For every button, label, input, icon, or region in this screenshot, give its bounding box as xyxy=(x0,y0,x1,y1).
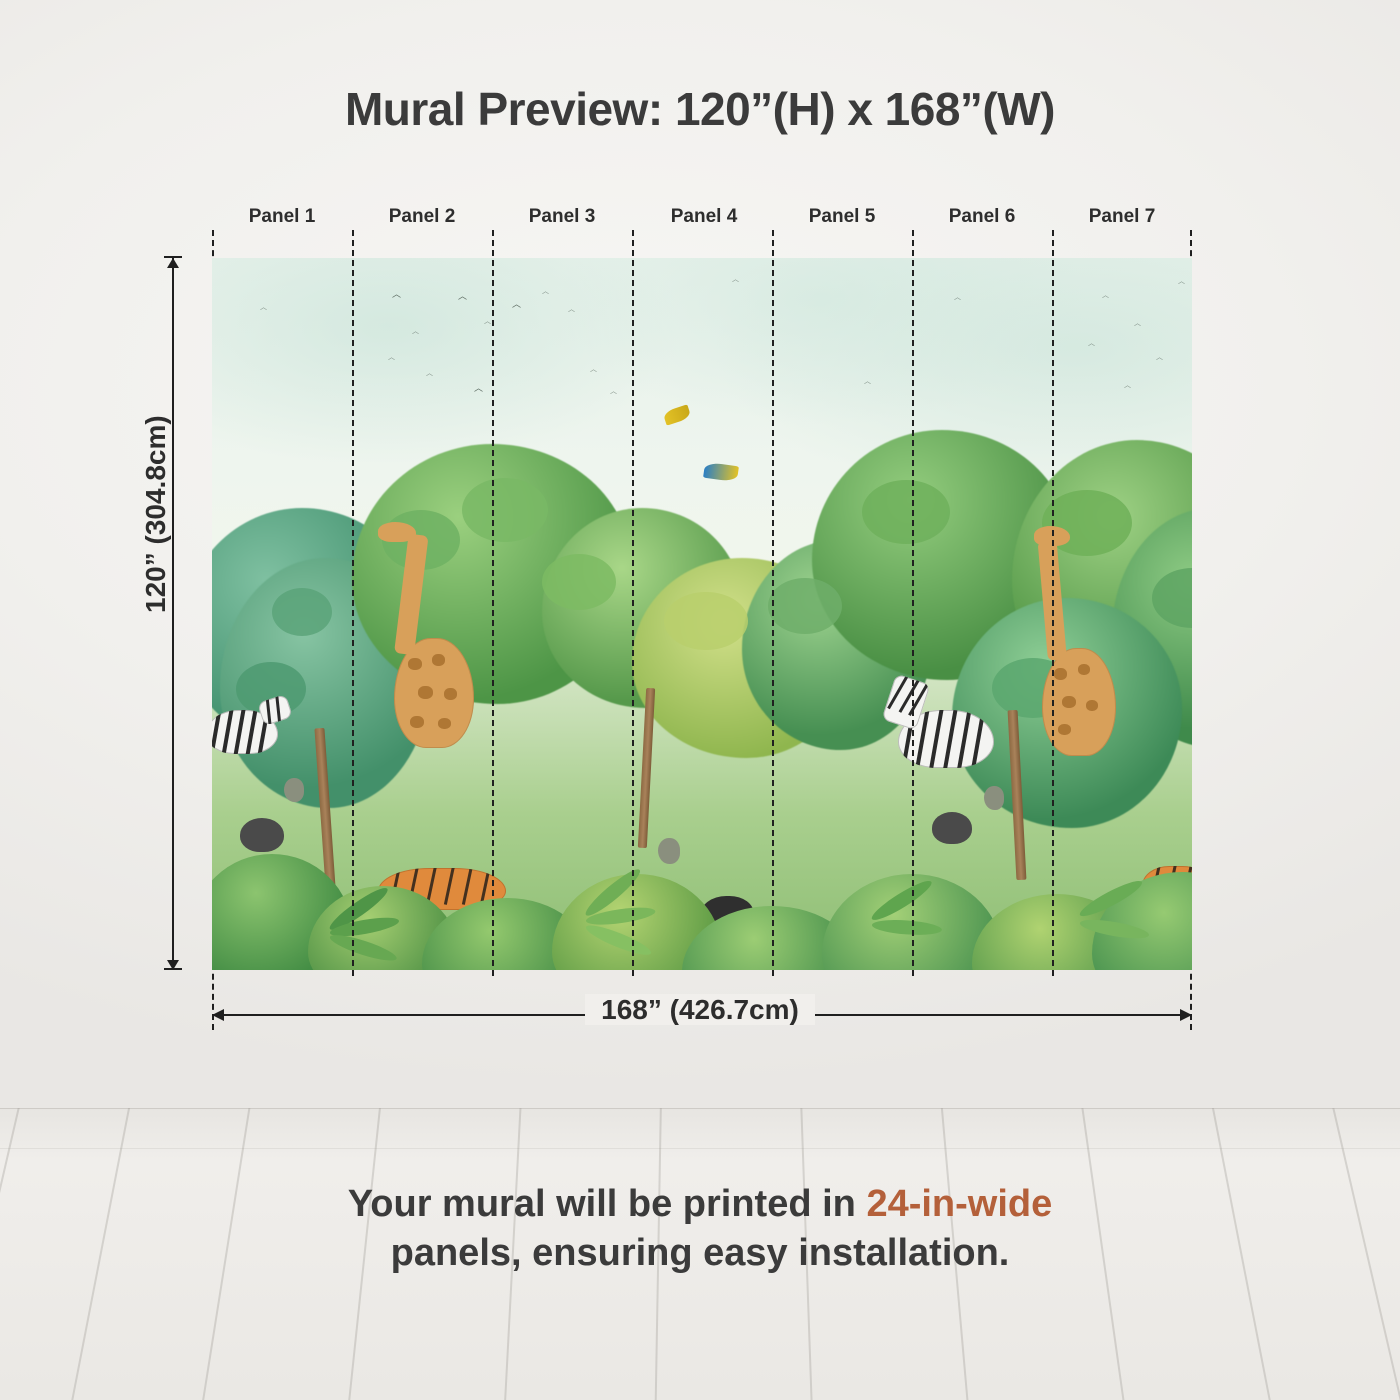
panel-label-4: Panel 4 xyxy=(671,206,738,228)
mural-preview[interactable]: ︿ ︿ ︿ ︿ ︿ ︿ ︿ ︿ ︿ ︿ ︿ ︿ ︿ ︿ ︿ ︿ ︿ ︿ ︿ ︿ xyxy=(212,258,1192,970)
height-dimension-cap-bottom xyxy=(164,968,182,970)
panel-divider-4 xyxy=(772,230,774,976)
height-dimension-label: 120” (304.8cm) xyxy=(140,415,172,613)
tree-trunk-mid xyxy=(638,688,655,848)
mural-preview-page: Mural Preview: 120”(H) x 168”(W) 120” (3… xyxy=(0,0,1400,1400)
panel-label-3: Panel 3 xyxy=(529,206,596,228)
panel-label-5: Panel 5 xyxy=(809,206,876,228)
crane-right xyxy=(932,812,972,844)
panel-divider-5 xyxy=(912,230,914,976)
monkey-left xyxy=(284,778,304,802)
crane-left xyxy=(240,818,284,852)
footer-accent-text: 24-in-wide xyxy=(866,1183,1052,1225)
width-dimension-text: 168” (426.7cm) xyxy=(585,994,815,1025)
monkey-right xyxy=(984,786,1004,810)
height-dimension-arrow xyxy=(172,258,174,970)
footer-line-1-prefix: Your mural will be printed in xyxy=(348,1183,867,1225)
width-dimension-label: 168” (426.7cm) xyxy=(0,994,1400,1026)
panel-divider-3 xyxy=(632,230,634,976)
footer-line-1: Your mural will be printed in 24-in-wide xyxy=(0,1180,1400,1229)
monkey-mid xyxy=(658,838,680,864)
panel-label-6: Panel 6 xyxy=(949,206,1016,228)
footer-line-2: panels, ensuring easy installation. xyxy=(0,1229,1400,1278)
panel-divider-1 xyxy=(352,230,354,976)
panel-label-1: Panel 1 xyxy=(249,206,316,228)
panel-divider-2 xyxy=(492,230,494,976)
panel-divider-6 xyxy=(1052,230,1054,976)
panel-label-7: Panel 7 xyxy=(1089,206,1156,228)
mural-artwork: ︿ ︿ ︿ ︿ ︿ ︿ ︿ ︿ ︿ ︿ ︿ ︿ ︿ ︿ ︿ ︿ ︿ ︿ ︿ ︿ xyxy=(212,258,1192,970)
page-title: Mural Preview: 120”(H) x 168”(W) xyxy=(0,82,1400,136)
panel-label-2: Panel 2 xyxy=(389,206,456,228)
footer-note: Your mural will be printed in 24-in-wide… xyxy=(0,1180,1400,1277)
